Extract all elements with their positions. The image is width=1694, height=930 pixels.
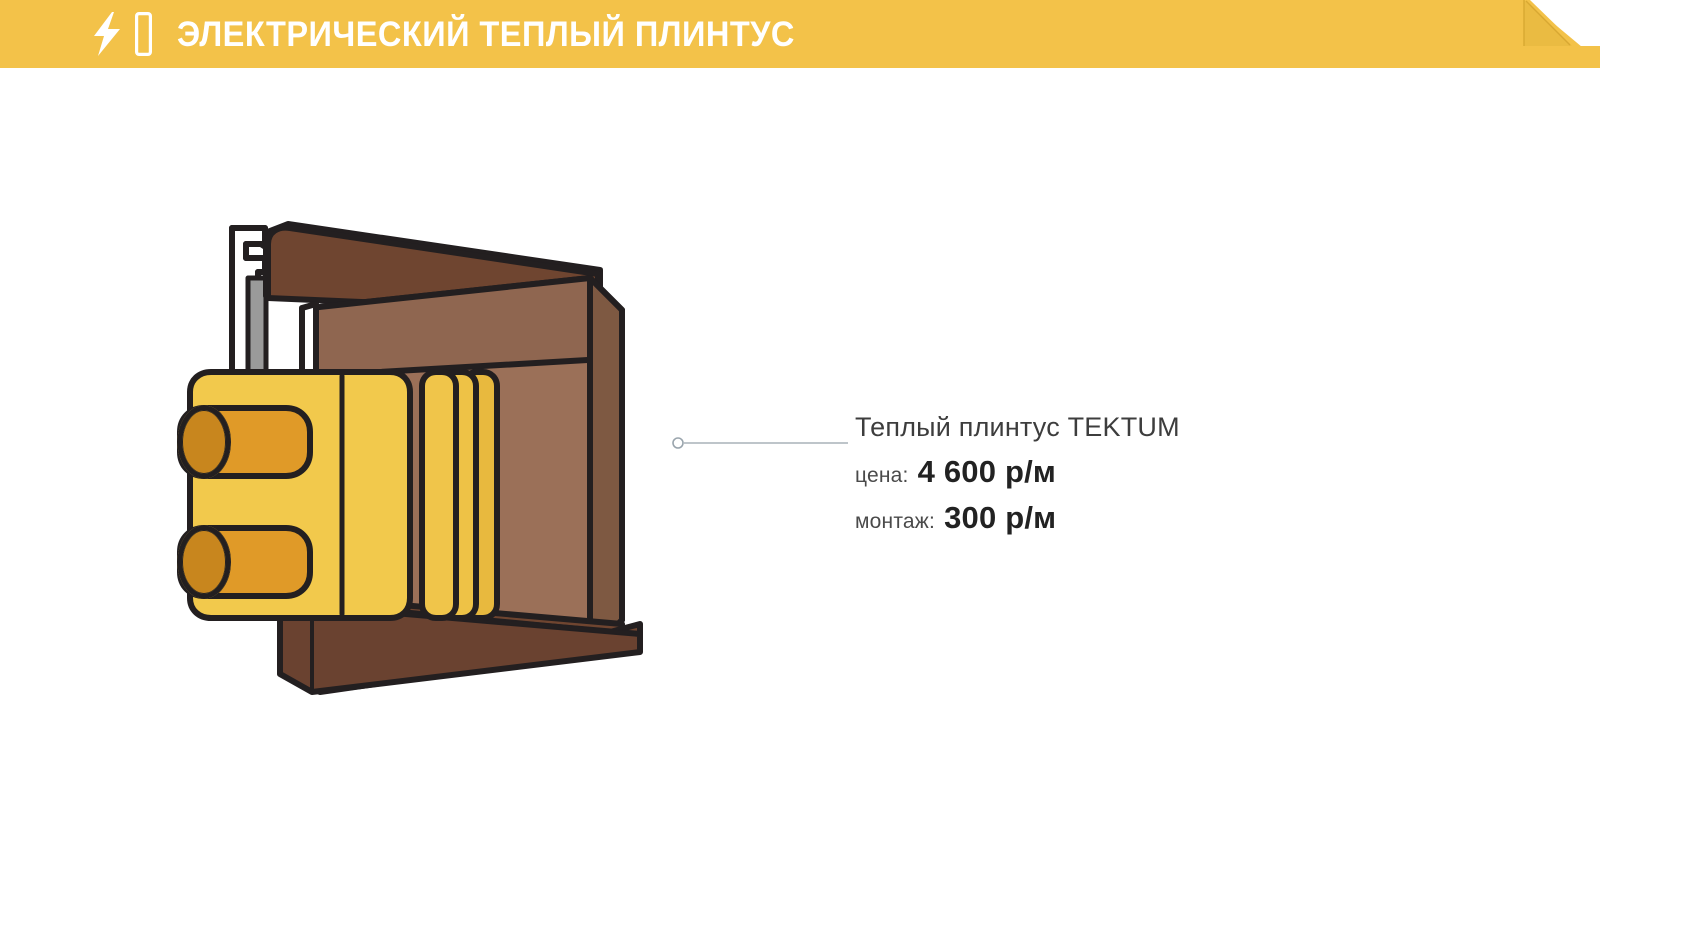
product-name: Теплый плинтус TEKTUM (855, 411, 1375, 444)
product-illustration (170, 200, 710, 720)
header-banner: ЭЛЕКТРИЧЕСКИЙ ТЕПЛЫЙ ПЛИНТУС (0, 0, 1600, 68)
banner-content: ЭЛЕКТРИЧЕСКИЙ ТЕПЛЫЙ ПЛИНТУС (0, 0, 841, 68)
product-spec-block: Теплый плинтус TEKTUM цена: 4 600 р/м мо… (855, 411, 1375, 536)
page-title: ЭЛЕКТРИЧЕСКИЙ ТЕПЛЫЙ ПЛИНТУС (177, 17, 795, 52)
lightning-bolt-icon (92, 12, 122, 56)
install-label: монтаж: (855, 509, 935, 534)
callout-leader (670, 425, 850, 461)
install-row: монтаж: 300 р/м (855, 499, 1375, 536)
baseboard-outline-icon (135, 12, 152, 56)
pipe-connector-bottom (180, 528, 310, 596)
leader-line-svg (670, 425, 850, 461)
pipe-connector-top (180, 408, 310, 476)
price-label: цена: (855, 463, 909, 488)
price-value: 4 600 р/м (918, 453, 1056, 490)
baseboard-cross-section-drawing (170, 200, 710, 720)
price-row: цена: 4 600 р/м (855, 453, 1375, 490)
install-value: 300 р/м (944, 499, 1056, 536)
leader-dot (673, 438, 683, 448)
